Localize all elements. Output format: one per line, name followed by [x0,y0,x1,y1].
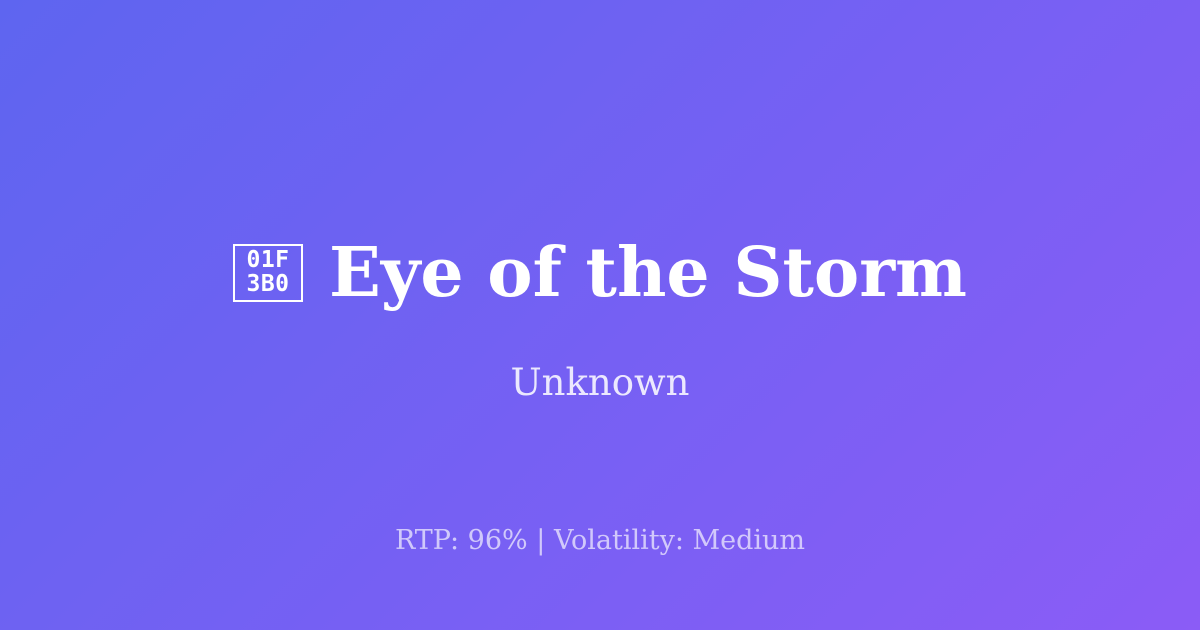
slot-machine-icon-codepoint-low: 3B0 [246,273,289,297]
game-title: Eye of the Storm [329,239,967,307]
slot-machine-icon: 01F 3B0 [233,244,303,302]
game-og-card: 01F 3B0 Eye of the Storm Unknown RTP: 96… [0,0,1200,630]
title-row: 01F 3B0 Eye of the Storm [0,239,1200,307]
game-stats: RTP: 96% | Volatility: Medium [0,527,1200,554]
game-provider: Unknown [0,364,1200,401]
slot-machine-icon-codepoint-high: 01F [246,249,289,273]
